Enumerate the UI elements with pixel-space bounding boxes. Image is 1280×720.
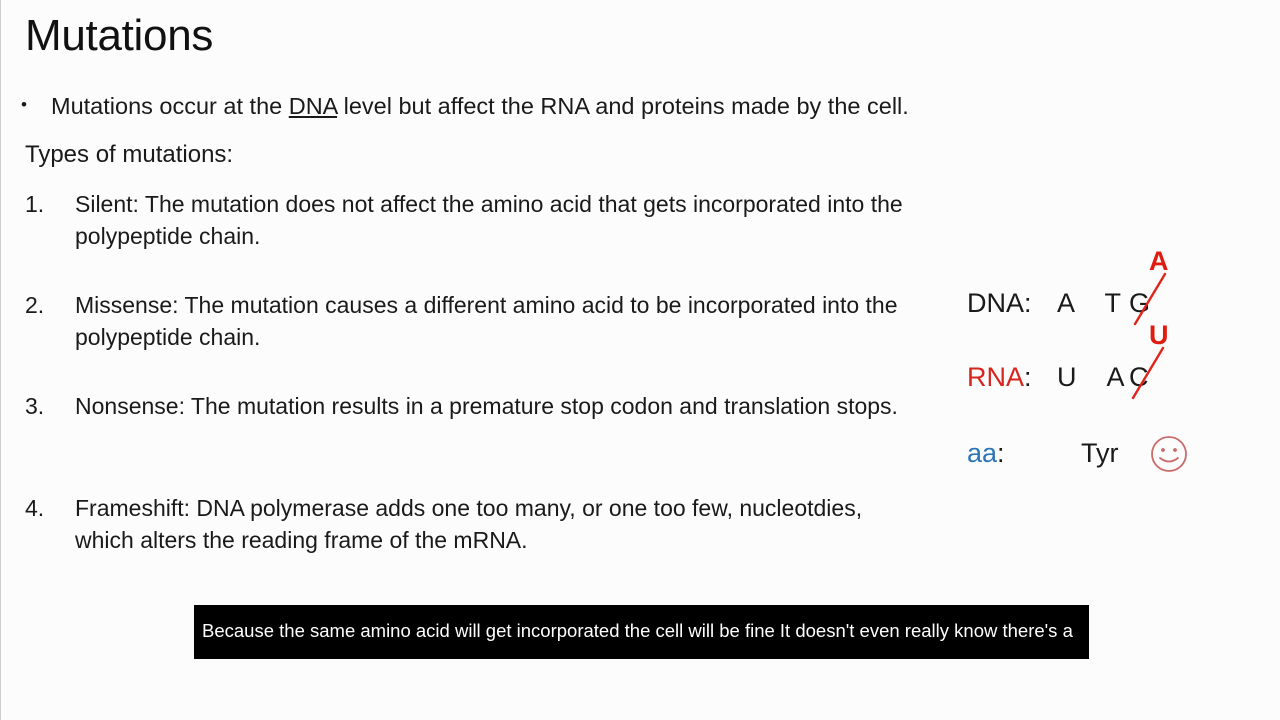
strikethrough-icon	[1129, 252, 1175, 328]
mutation-diagram: DNA: A T G A RNA: U A C U	[951, 240, 1211, 490]
caption-subtitle: Because the same amino acid will get inc…	[194, 605, 1089, 659]
bullet-text-before: Mutations occur at the	[51, 93, 289, 119]
rna-mutation-group: C U	[1129, 362, 1189, 442]
list-item: 4. Frameshift: DNA polymerase adds one t…	[25, 492, 925, 556]
list-item-text: Frameshift: DNA polymerase adds one too …	[75, 492, 925, 556]
list-item-number: 1.	[25, 188, 59, 220]
dna-label: DNA:	[967, 288, 1032, 319]
list-item: 1. Silent: The mutation does not affect …	[25, 188, 925, 252]
list-item-text: Missense: The mutation causes a differen…	[75, 289, 925, 353]
intro-bullet: •Mutations occur at the DNA level but af…	[21, 91, 971, 122]
intro-bullet-text: Mutations occur at the DNA level but aff…	[51, 93, 909, 119]
list-item-number: 3.	[25, 390, 59, 422]
bullet-marker: •	[21, 91, 51, 116]
list-item: 3. Nonsense: The mutation results in a p…	[25, 390, 925, 422]
list-item: 2. Missense: The mutation causes a diffe…	[25, 289, 925, 353]
aa-label: aa:	[967, 438, 1005, 469]
types-of-mutations-heading: Types of mutations:	[25, 141, 233, 169]
list-item-number: 2.	[25, 289, 59, 321]
rna-label: RNA:	[967, 362, 1032, 393]
slide-canvas: Mutations •Mutations occur at the DNA le…	[0, 0, 1280, 720]
strikethrough-icon	[1129, 326, 1175, 402]
aa-value: Tyr	[1081, 438, 1119, 469]
list-item-text: Silent: The mutation does not affect the…	[75, 188, 925, 252]
bullet-text-after: level but affect the RNA and proteins ma…	[337, 93, 909, 119]
page-title: Mutations	[25, 12, 213, 60]
dna-bases: A T	[1057, 288, 1133, 319]
bullet-underlined-dna: DNA	[289, 93, 337, 119]
list-item-text: Nonsense: The mutation results in a prem…	[75, 390, 925, 422]
smiley-face-icon	[1149, 434, 1189, 474]
rna-bases: U A	[1057, 362, 1137, 393]
list-item-number: 4.	[25, 492, 59, 524]
